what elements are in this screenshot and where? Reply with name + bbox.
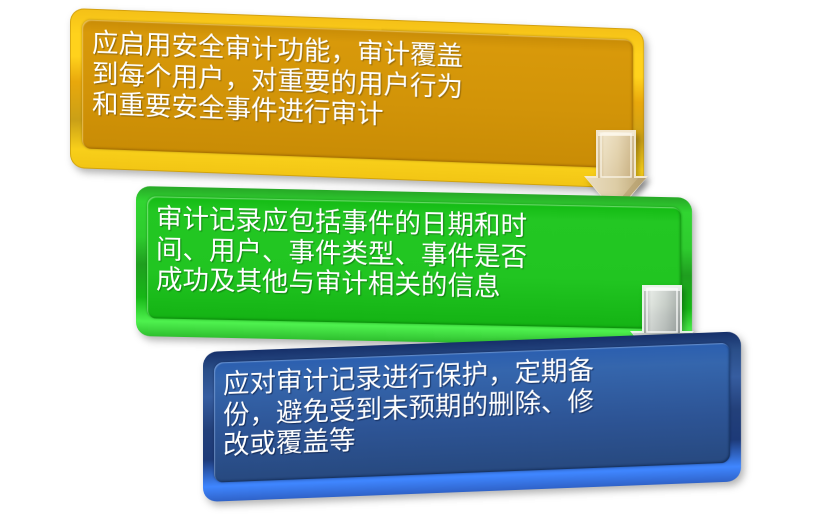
callout-text-step-1: 应启用安全审计功能，审计覆盖 到每个用户，对重要的用户行为 和重要安全事件进行审… [92, 29, 463, 135]
callout-text-step-3: 应对审计记录进行保护，定期备 份，避免受到未预期的删除、修 改或覆盖等 [223, 356, 594, 462]
callout-box-step-2[interactable]: 审计记录应包括事件的日期和时 间、用户、事件类型、事件是否 成功及其他与审计相关… [136, 186, 692, 348]
callout-box-step-3[interactable]: 应对审计记录进行保护，定期备 份，避免受到未预期的删除、修 改或覆盖等 [203, 331, 741, 502]
callout-text-step-2: 审计记录应包括事件的日期和时 间、用户、事件类型、事件是否 成功及其他与审计相关… [156, 204, 527, 304]
callout-box-step-1[interactable]: 应启用安全审计功能，审计覆盖 到每个用户，对重要的用户行为 和重要安全事件进行审… [70, 8, 644, 189]
slide-canvas: 应启用安全审计功能，审计覆盖 到每个用户，对重要的用户行为 和重要安全事件进行审… [0, 0, 816, 524]
